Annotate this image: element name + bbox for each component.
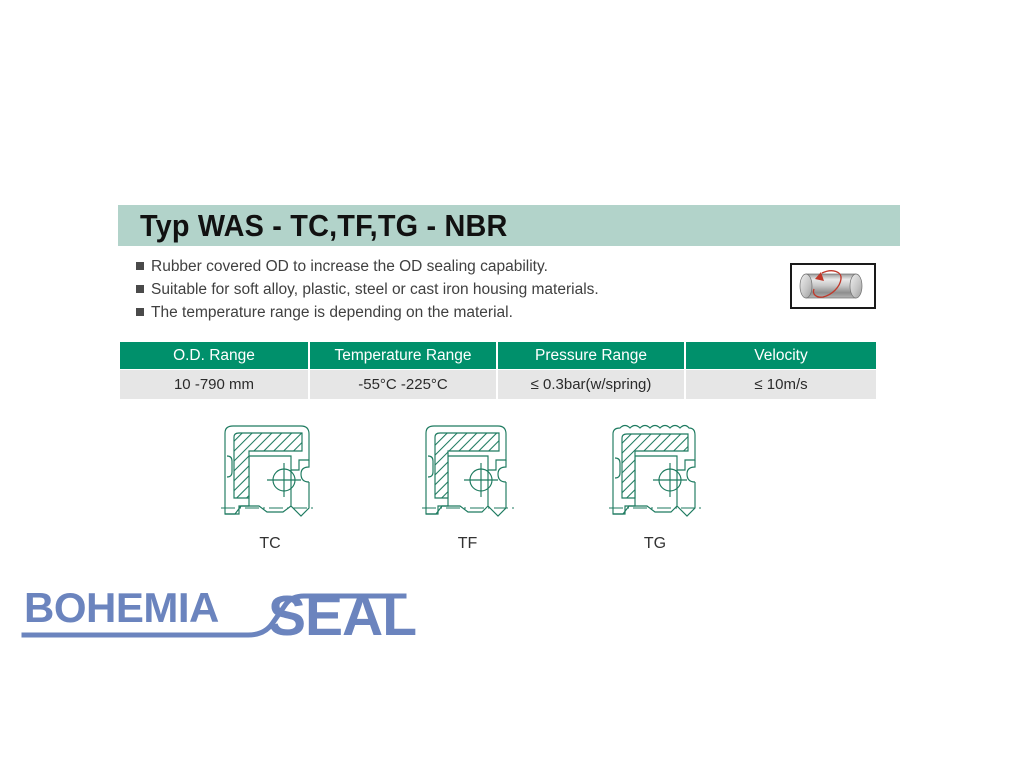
seal-label-tg: TG bbox=[595, 535, 715, 553]
bohemia-seal-logo: BOHEMIA SEAL bbox=[18, 578, 418, 650]
list-item: Rubber covered OD to increase the OD sea… bbox=[136, 256, 776, 279]
seal-figure-tf: TF bbox=[410, 420, 525, 553]
list-item: The temperature range is depending on th… bbox=[136, 302, 776, 325]
table-header-row: O.D. Range Temperature Range Pressure Ra… bbox=[120, 342, 876, 369]
page-title: Typ WAS - TC,TF,TG - NBR bbox=[140, 208, 507, 244]
column-header-velocity: Velocity bbox=[686, 342, 876, 369]
cell-pressure-range: ≤ 0.3bar(w/spring) bbox=[498, 370, 684, 399]
feature-bullet-list: Rubber covered OD to increase the OD sea… bbox=[136, 256, 776, 325]
column-header-pressure-range: Pressure Range bbox=[498, 342, 684, 369]
rotating-shaft-icon bbox=[792, 265, 874, 307]
square-bullet-icon bbox=[136, 285, 144, 293]
seal-figure-tg: TG bbox=[595, 420, 715, 553]
table-row: 10 -790 mm -55°C -225°C ≤ 0.3bar(w/sprin… bbox=[120, 370, 876, 399]
seal-label-tc: TC bbox=[205, 535, 335, 553]
cell-od-range: 10 -790 mm bbox=[120, 370, 308, 399]
list-item: Suitable for soft alloy, plastic, steel … bbox=[136, 279, 776, 302]
logo-word-bohemia: BOHEMIA bbox=[24, 584, 219, 631]
logo-artwork: BOHEMIA SEAL bbox=[18, 578, 418, 650]
column-header-temperature-range: Temperature Range bbox=[310, 342, 496, 369]
seal-figure-tc: TC bbox=[205, 420, 335, 553]
square-bullet-icon bbox=[136, 308, 144, 316]
seal-cross-section-tf-icon bbox=[410, 420, 525, 528]
list-item-label: Suitable for soft alloy, plastic, steel … bbox=[151, 279, 599, 300]
seal-cross-section-tc-icon bbox=[205, 420, 335, 528]
cell-temperature-range: -55°C -225°C bbox=[310, 370, 496, 399]
cell-velocity: ≤ 10m/s bbox=[686, 370, 876, 399]
title-banner: Typ WAS - TC,TF,TG - NBR bbox=[118, 205, 900, 246]
rotating-shaft-icon-box bbox=[790, 263, 876, 309]
column-header-od-range: O.D. Range bbox=[120, 342, 308, 369]
square-bullet-icon bbox=[136, 262, 144, 270]
seal-label-tf: TF bbox=[410, 535, 525, 553]
list-item-label: The temperature range is depending on th… bbox=[151, 302, 513, 323]
list-item-label: Rubber covered OD to increase the OD sea… bbox=[151, 256, 548, 277]
seal-cross-section-tg-icon bbox=[595, 420, 715, 528]
specification-table: O.D. Range Temperature Range Pressure Ra… bbox=[118, 341, 878, 400]
